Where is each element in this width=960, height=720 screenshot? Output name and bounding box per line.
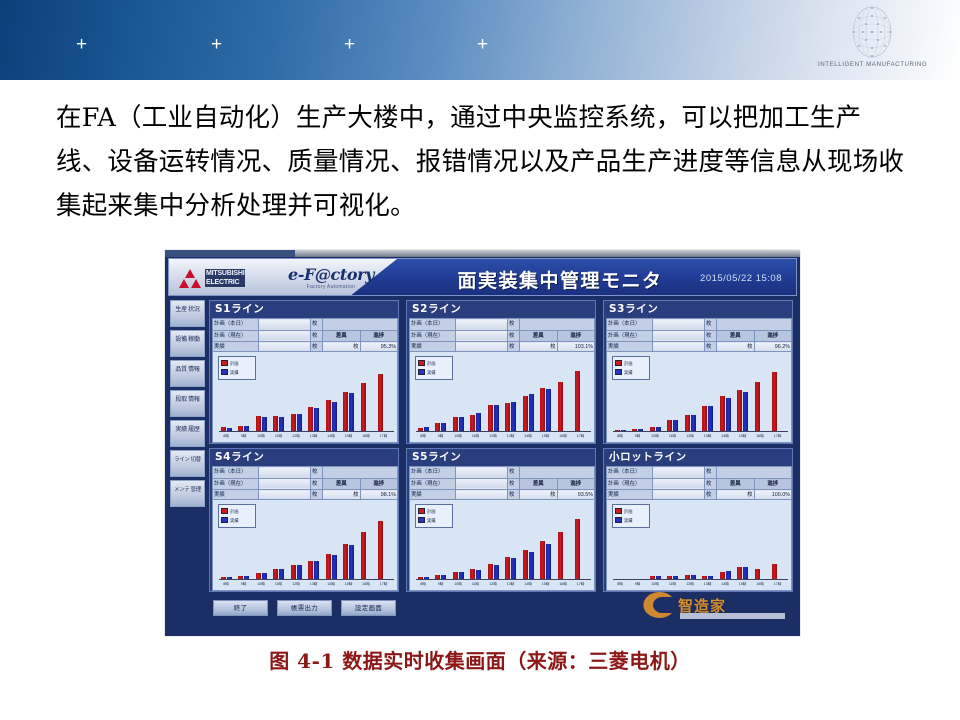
line-summary-table: 計画（本日）枚計画（現在）枚差異進捗実績枚枚100.0% <box>606 466 792 502</box>
bar-group <box>753 358 767 431</box>
bar-plan <box>453 572 458 579</box>
bar-actual <box>349 545 354 579</box>
bar-actual <box>349 393 354 431</box>
bar-group <box>574 506 588 579</box>
bar-group <box>359 506 373 579</box>
bar-actual <box>726 398 731 431</box>
cell-plan-today <box>653 467 705 479</box>
bar-actual <box>494 565 499 579</box>
line-panel-title: S2ライン <box>409 302 595 317</box>
sidebar-item-line-switch[interactable]: ライン 切替 <box>170 450 205 477</box>
bar-actual <box>529 552 534 579</box>
bar-group <box>521 358 535 431</box>
col-header-progress: 進捗 <box>754 478 792 490</box>
slide-root: + + + + <box>0 0 960 720</box>
bar-group <box>539 358 553 431</box>
bar-plan <box>575 371 580 431</box>
bar-group <box>377 506 391 579</box>
sidebar-item-equipment[interactable]: 設備 稼働 <box>170 330 205 357</box>
col-header-progress: 進捗 <box>557 330 595 342</box>
monitor-bottom-bar: 終了 帳票出力 設定画面 <box>209 598 797 628</box>
bar-group <box>701 506 715 579</box>
mitsubishi-wordmark: MITSUBISHI ELECTRIC <box>205 269 245 287</box>
x-tick-label: 17時 <box>574 580 588 589</box>
x-tick-label: 13時 <box>504 580 518 589</box>
bar-actual <box>441 423 446 431</box>
bar-actual <box>279 417 284 431</box>
sidebar-label-4: 実績 履歴 <box>175 427 199 433</box>
x-tick-label: 15時 <box>539 580 553 589</box>
bar-group <box>718 358 732 431</box>
bar-plan <box>361 383 366 431</box>
x-tick-label: 11時 <box>666 432 680 441</box>
sidebar-label-2: 品質 情報 <box>175 367 199 373</box>
brand-logo-caption: INTELLIGENT MANUFACTURING <box>818 61 926 68</box>
bar-actual <box>332 555 337 579</box>
bar-plan <box>453 417 458 431</box>
col-header-progress: 進捗 <box>754 330 792 342</box>
x-tick-label: 10時 <box>254 580 268 589</box>
bar-plan <box>772 372 777 431</box>
x-tick-label: 14時 <box>718 432 732 441</box>
x-tick-label: 17時 <box>574 432 588 441</box>
x-tick-label: 13時 <box>504 432 518 441</box>
bar-plan <box>291 414 296 431</box>
x-tick-label: 17時 <box>771 580 785 589</box>
unit-plan-today: 枚 <box>508 467 520 479</box>
bar-plan <box>326 400 331 431</box>
plus-mark-icon-3: + <box>344 35 355 54</box>
chart-plot-area <box>219 358 394 431</box>
bar-group <box>434 506 448 579</box>
bar-group <box>771 506 785 579</box>
bar-group <box>307 506 321 579</box>
bar-plan <box>291 565 296 579</box>
unit-plan-now: 枚 <box>311 478 323 490</box>
line-bar-chart: 計画実績8時9時10時11時12時13時14時15時16時17時 <box>409 351 595 443</box>
x-tick-label: 13時 <box>701 580 715 589</box>
line-panel[interactable]: S2ライン計画（本日）枚計画（現在）枚差異進捗実績枚枚103.1%計画実績8時9… <box>406 300 596 444</box>
cell-plan-now <box>259 330 311 342</box>
bar-plan <box>540 541 545 579</box>
bar-actual <box>279 569 284 579</box>
header-banner: + + + + <box>0 0 960 80</box>
row-label-plan-now: 計画（現在） <box>213 330 259 342</box>
x-tick-label: 8時 <box>613 580 627 589</box>
bar-plan <box>378 521 383 579</box>
bar-actual <box>459 572 464 579</box>
unit-plan-now: 枚 <box>705 330 717 342</box>
bar-actual <box>708 406 713 431</box>
bar-plan <box>737 390 742 431</box>
bar-group <box>254 506 268 579</box>
line-bar-chart: 計画実績8時9時10時11時12時13時14時15時16時17時 <box>606 351 792 443</box>
x-tick-label: 17時 <box>377 580 391 589</box>
bar-plan <box>343 392 348 431</box>
x-tick-label: 15時 <box>736 580 750 589</box>
x-tick-label: 8時 <box>613 432 627 441</box>
bar-plan <box>558 382 563 431</box>
row-label-plan-today: 計画（本日） <box>410 467 456 479</box>
row-label-plan-now: 計画（現在） <box>607 478 653 490</box>
line-bar-chart: 計画実績8時9時10時11時12時13時14時15時16時17時 <box>606 499 792 591</box>
bar-actual <box>511 558 516 579</box>
cell-plan-today <box>259 467 311 479</box>
bar-group <box>613 358 627 431</box>
mitsubishi-line2: ELECTRIC <box>205 278 245 287</box>
sidebar-label-0: 生産 状況 <box>175 307 199 313</box>
col-header-progress: 進捗 <box>360 330 398 342</box>
bar-group <box>753 506 767 579</box>
x-tick-label: 16時 <box>753 432 767 441</box>
cell-plan-today <box>456 319 508 331</box>
x-tick-label: 12時 <box>683 432 697 441</box>
bar-group <box>451 506 465 579</box>
col-header-diff: 差異 <box>717 330 755 342</box>
plus-mark-icon-4: + <box>477 35 488 54</box>
x-tick-label: 10時 <box>648 432 662 441</box>
globe-network-icon <box>844 4 900 60</box>
x-tick-label: 11時 <box>272 580 286 589</box>
x-tick-label: 11時 <box>666 580 680 589</box>
monitor-window-strip <box>165 250 800 257</box>
bar-plan <box>256 416 261 431</box>
monitor-datetime: 2015/05/22 15:08 <box>700 273 782 284</box>
line-panel[interactable]: 小ロットライン計画（本日）枚計画（現在）枚差異進捗実績枚枚100.0%計画実績8… <box>603 448 793 592</box>
chart-plot-area <box>613 506 788 579</box>
x-tick-label: 9時 <box>434 580 448 589</box>
bar-actual <box>297 414 302 431</box>
line-summary-table: 計画（本日）枚計画（現在）枚差異進捗実績枚枚98.1% <box>212 466 398 502</box>
bar-actual <box>314 561 319 579</box>
col-header-progress: 進捗 <box>360 478 398 490</box>
cell-plan-now <box>653 478 705 490</box>
bar-group <box>718 506 732 579</box>
chart-x-tick-labels: 8時9時10時11時12時13時14時15時16時17時 <box>416 432 591 441</box>
plus-mark-icon-2: + <box>211 35 222 54</box>
efactory-logo: e-F@ctory Factory Automation <box>279 267 383 290</box>
row-label-plan-today: 計画（本日） <box>410 319 456 331</box>
sidebar-item-quality[interactable]: 品質 情報 <box>170 360 205 387</box>
x-tick-label: 9時 <box>631 432 645 441</box>
sidebar-label-1: 設備 稼働 <box>175 337 199 343</box>
bar-group <box>416 358 430 431</box>
cell-plan-today <box>259 319 311 331</box>
bar-plan <box>505 403 510 431</box>
cell-plan-now <box>456 478 508 490</box>
monitor-title-bar: MITSUBISHI ELECTRIC e-F@ctory Factory Au… <box>168 258 797 296</box>
bar-plan <box>273 569 278 579</box>
unit-plan-now: 枚 <box>508 330 520 342</box>
chart-x-tick-labels: 8時9時10時11時12時13時14時15時16時17時 <box>416 580 591 589</box>
bar-plan <box>361 532 366 579</box>
bar-group <box>359 358 373 431</box>
x-tick-label: 9時 <box>237 580 251 589</box>
cell-plan-now <box>653 330 705 342</box>
sidebar-item-production[interactable]: 生産 状況 <box>170 300 205 327</box>
bar-group <box>556 506 570 579</box>
bar-plan <box>702 406 707 431</box>
x-tick-label: 15時 <box>342 580 356 589</box>
bar-plan <box>488 405 493 431</box>
efactory-wordmark: e-F@ctory <box>279 267 383 283</box>
x-tick-label: 14時 <box>521 432 535 441</box>
unit-plan-today: 枚 <box>311 319 323 331</box>
line-panel[interactable]: S4ライン計画（本日）枚計画（現在）枚差異進捗実績枚枚98.1%計画実績8時9時… <box>209 448 399 592</box>
chart-plot-area <box>416 358 591 431</box>
sidebar-label-6: メンテ 管理 <box>174 487 201 493</box>
bar-group <box>666 506 680 579</box>
bar-plan <box>308 407 313 431</box>
col-header-diff: 差異 <box>323 478 361 490</box>
x-tick-label: 11時 <box>272 432 286 441</box>
row-label-plan-now: 計画（現在） <box>410 478 456 490</box>
sidebar-label-3: 段取 情報 <box>175 397 199 403</box>
bar-actual <box>743 567 748 579</box>
bar-plan <box>772 564 777 579</box>
x-tick-label: 12時 <box>289 432 303 441</box>
col-header-progress: 進捗 <box>557 478 595 490</box>
bar-plan <box>470 569 475 579</box>
bar-group <box>556 358 570 431</box>
line-bar-chart: 計画実績8時9時10時11時12時13時14時15時16時17時 <box>212 351 398 443</box>
bar-group <box>613 506 627 579</box>
unit-plan-today: 枚 <box>705 467 717 479</box>
bar-group <box>771 358 785 431</box>
chart-plot-area <box>219 506 394 579</box>
bar-plan <box>523 396 528 431</box>
x-tick-label: 14時 <box>324 580 338 589</box>
bar-group <box>736 358 750 431</box>
bar-group <box>307 358 321 431</box>
bar-plan <box>308 561 313 579</box>
mitsubishi-line1: MITSUBISHI <box>205 269 245 278</box>
x-tick-label: 14時 <box>718 580 732 589</box>
x-tick-label: 14時 <box>324 432 338 441</box>
unit-plan-now: 枚 <box>311 330 323 342</box>
x-tick-label: 17時 <box>377 432 391 441</box>
bar-plan <box>667 420 672 431</box>
chart-x-tick-labels: 8時9時10時11時12時13時14時15時16時17時 <box>613 432 788 441</box>
x-tick-label: 16時 <box>359 432 373 441</box>
bar-plan <box>343 544 348 579</box>
bar-group <box>324 358 338 431</box>
line-bar-chart: 計画実績8時9時10時11時12時13時14時15時16時17時 <box>212 499 398 591</box>
chart-x-tick-labels: 8時9時10時11時12時13時14時15時16時17時 <box>613 580 788 589</box>
bar-group <box>521 506 535 579</box>
row-label-plan-today: 計画（本日） <box>607 467 653 479</box>
x-tick-label: 13時 <box>307 432 321 441</box>
sidebar-item-setup[interactable]: 段取 情報 <box>170 390 205 417</box>
chart-plot-area <box>416 506 591 579</box>
row-label-plan-now: 計画（現在） <box>607 330 653 342</box>
bar-group <box>377 358 391 431</box>
bar-actual <box>332 402 337 431</box>
bar-plan <box>540 388 545 431</box>
bar-group <box>648 506 662 579</box>
bar-group <box>219 358 233 431</box>
col-header-diff: 差異 <box>717 478 755 490</box>
cell-empty <box>520 467 595 479</box>
unit-plan-now: 枚 <box>705 478 717 490</box>
bar-group <box>736 506 750 579</box>
x-tick-label: 15時 <box>539 432 553 441</box>
x-tick-label: 9時 <box>631 580 645 589</box>
bar-plan <box>470 415 475 431</box>
bar-actual <box>476 413 481 431</box>
x-tick-label: 10時 <box>451 580 465 589</box>
bar-plan <box>755 569 760 579</box>
bar-group <box>469 506 483 579</box>
monitor-panel-grid: S1ライン計画（本日）枚計画（現在）枚差異進捗実績枚枚95.3%計画実績8時9時… <box>209 300 797 595</box>
x-tick-label: 15時 <box>342 432 356 441</box>
x-tick-label: 12時 <box>486 432 500 441</box>
bar-group <box>631 506 645 579</box>
monitor-sidebar: 生産 状況 設備 稼働 品質 情報 段取 情報 実績 履歴 ライン 切替 メンテ… <box>168 300 208 630</box>
bar-plan <box>435 423 440 431</box>
bar-group <box>272 358 286 431</box>
bar-plan <box>720 572 725 579</box>
unit-plan-today: 枚 <box>311 467 323 479</box>
body-paragraph: 在FA（工业自动化）生产大楼中，通过中央监控系统，可以把加工生产线、设备运转情况… <box>56 96 912 228</box>
chart-x-tick-labels: 8時9時10時11時12時13時14時15時16時17時 <box>219 432 394 441</box>
col-header-diff: 差異 <box>520 478 558 490</box>
settings-button[interactable]: 設定画面 <box>341 600 396 616</box>
row-label-plan-now: 計画（現在） <box>213 478 259 490</box>
bar-group <box>237 506 251 579</box>
cell-empty <box>323 467 398 479</box>
line-summary-table: 計画（本日）枚計画（現在）枚差異進捗実績枚枚96.2% <box>606 318 792 354</box>
chart-x-tick-labels: 8時9時10時11時12時13時14時15時16時17時 <box>219 580 394 589</box>
bar-group <box>539 506 553 579</box>
x-tick-label: 10時 <box>254 432 268 441</box>
report-button[interactable]: 帳票出力 <box>277 600 332 616</box>
bar-group <box>631 358 645 431</box>
row-label-plan-today: 計画（本日） <box>213 467 259 479</box>
cell-plan-now <box>259 478 311 490</box>
unit-plan-today: 枚 <box>705 319 717 331</box>
bar-plan <box>523 550 528 579</box>
bar-group <box>342 358 356 431</box>
cell-empty <box>717 467 792 479</box>
x-tick-label: 12時 <box>289 580 303 589</box>
line-panel[interactable]: S5ライン計画（本日）枚計画（現在）枚差異進捗実績枚枚93.5%計画実績8時9時… <box>406 448 596 592</box>
bar-actual <box>314 408 319 431</box>
bar-group <box>648 358 662 431</box>
row-label-plan-today: 計画（本日） <box>607 319 653 331</box>
bar-group <box>701 358 715 431</box>
x-tick-label: 8時 <box>219 580 233 589</box>
chart-plot-area <box>613 358 788 431</box>
x-tick-label: 9時 <box>237 432 251 441</box>
sidebar-label-5: ライン 切替 <box>174 457 201 463</box>
bar-group <box>451 358 465 431</box>
figure-monitor-screenshot: MITSUBISHI ELECTRIC e-F@ctory Factory Au… <box>165 250 800 636</box>
bar-group <box>666 358 680 431</box>
bar-group <box>504 506 518 579</box>
line-summary-table: 計画（本日）枚計画（現在）枚差異進捗実績枚枚95.3% <box>212 318 398 354</box>
bar-group <box>416 506 430 579</box>
bar-actual <box>476 570 481 579</box>
x-tick-label: 10時 <box>451 432 465 441</box>
x-tick-label: 17時 <box>771 432 785 441</box>
bar-plan <box>737 567 742 579</box>
bar-plan <box>505 557 510 579</box>
bar-actual <box>743 392 748 431</box>
x-tick-label: 8時 <box>416 432 430 441</box>
bar-plan <box>558 532 563 579</box>
line-panel-title: S4ライン <box>212 450 398 465</box>
cell-plan-now <box>456 330 508 342</box>
bar-plan <box>326 554 331 579</box>
bar-group <box>486 506 500 579</box>
efactory-subtext: Factory Automation <box>279 284 383 290</box>
mitsubishi-three-diamond-icon <box>178 268 202 288</box>
x-tick-label: 16時 <box>753 580 767 589</box>
bar-actual <box>511 402 516 431</box>
line-summary-table: 計画（本日）枚計画（現在）枚差異進捗実績枚枚93.5% <box>409 466 595 502</box>
line-panel-title: 小ロットライン <box>606 450 792 465</box>
brand-logo: INTELLIGENT MANUFACTURING <box>818 4 926 78</box>
line-panel[interactable]: S3ライン計画（本日）枚計画（現在）枚差異進捗実績枚枚96.2%計画実績8時9時… <box>603 300 793 444</box>
x-tick-label: 16時 <box>556 432 570 441</box>
exit-button[interactable]: 終了 <box>213 600 268 616</box>
col-header-diff: 差異 <box>520 330 558 342</box>
line-panel-title: S5ライン <box>409 450 595 465</box>
line-panel[interactable]: S1ライン計画（本日）枚計画（現在）枚差異進捗実績枚枚95.3%計画実績8時9時… <box>209 300 399 444</box>
line-bar-chart: 計画実績8時9時10時11時12時13時14時15時16時17時 <box>409 499 595 591</box>
bar-plan <box>720 396 725 431</box>
x-tick-label: 11時 <box>469 432 483 441</box>
bar-actual <box>546 544 551 579</box>
bar-actual <box>459 417 464 431</box>
plus-mark-icon-1: + <box>76 35 87 54</box>
bar-actual <box>262 417 267 431</box>
bar-plan <box>755 382 760 431</box>
bar-group <box>683 358 697 431</box>
monitor-page-title: 面実装集中管理モニタ <box>415 266 705 293</box>
bar-actual <box>691 415 696 431</box>
bar-actual <box>726 571 731 579</box>
bar-group <box>237 358 251 431</box>
bar-plan <box>488 564 493 579</box>
sidebar-item-maintenance[interactable]: メンテ 管理 <box>170 480 205 507</box>
row-label-plan-now: 計画（現在） <box>410 330 456 342</box>
bar-actual <box>529 394 534 431</box>
x-tick-label: 10時 <box>648 580 662 589</box>
unit-plan-today: 枚 <box>508 319 520 331</box>
bar-group <box>272 506 286 579</box>
x-tick-label: 12時 <box>486 580 500 589</box>
sidebar-item-history[interactable]: 実績 履歴 <box>170 420 205 447</box>
x-tick-label: 16時 <box>359 580 373 589</box>
x-tick-label: 8時 <box>219 432 233 441</box>
line-panel-title: S3ライン <box>606 302 792 317</box>
cell-empty <box>520 319 595 331</box>
line-panel-title: S1ライン <box>212 302 398 317</box>
bar-plan <box>575 519 580 579</box>
bar-group <box>469 358 483 431</box>
line-summary-table: 計画（本日）枚計画（現在）枚差異進捗実績枚枚103.1% <box>409 318 595 354</box>
x-tick-label: 12時 <box>683 580 697 589</box>
x-tick-label: 15時 <box>736 432 750 441</box>
x-tick-label: 16時 <box>556 580 570 589</box>
x-tick-label: 14時 <box>521 580 535 589</box>
unit-plan-now: 枚 <box>508 478 520 490</box>
bar-group <box>324 506 338 579</box>
bar-plan <box>378 374 383 431</box>
x-tick-label: 13時 <box>701 432 715 441</box>
